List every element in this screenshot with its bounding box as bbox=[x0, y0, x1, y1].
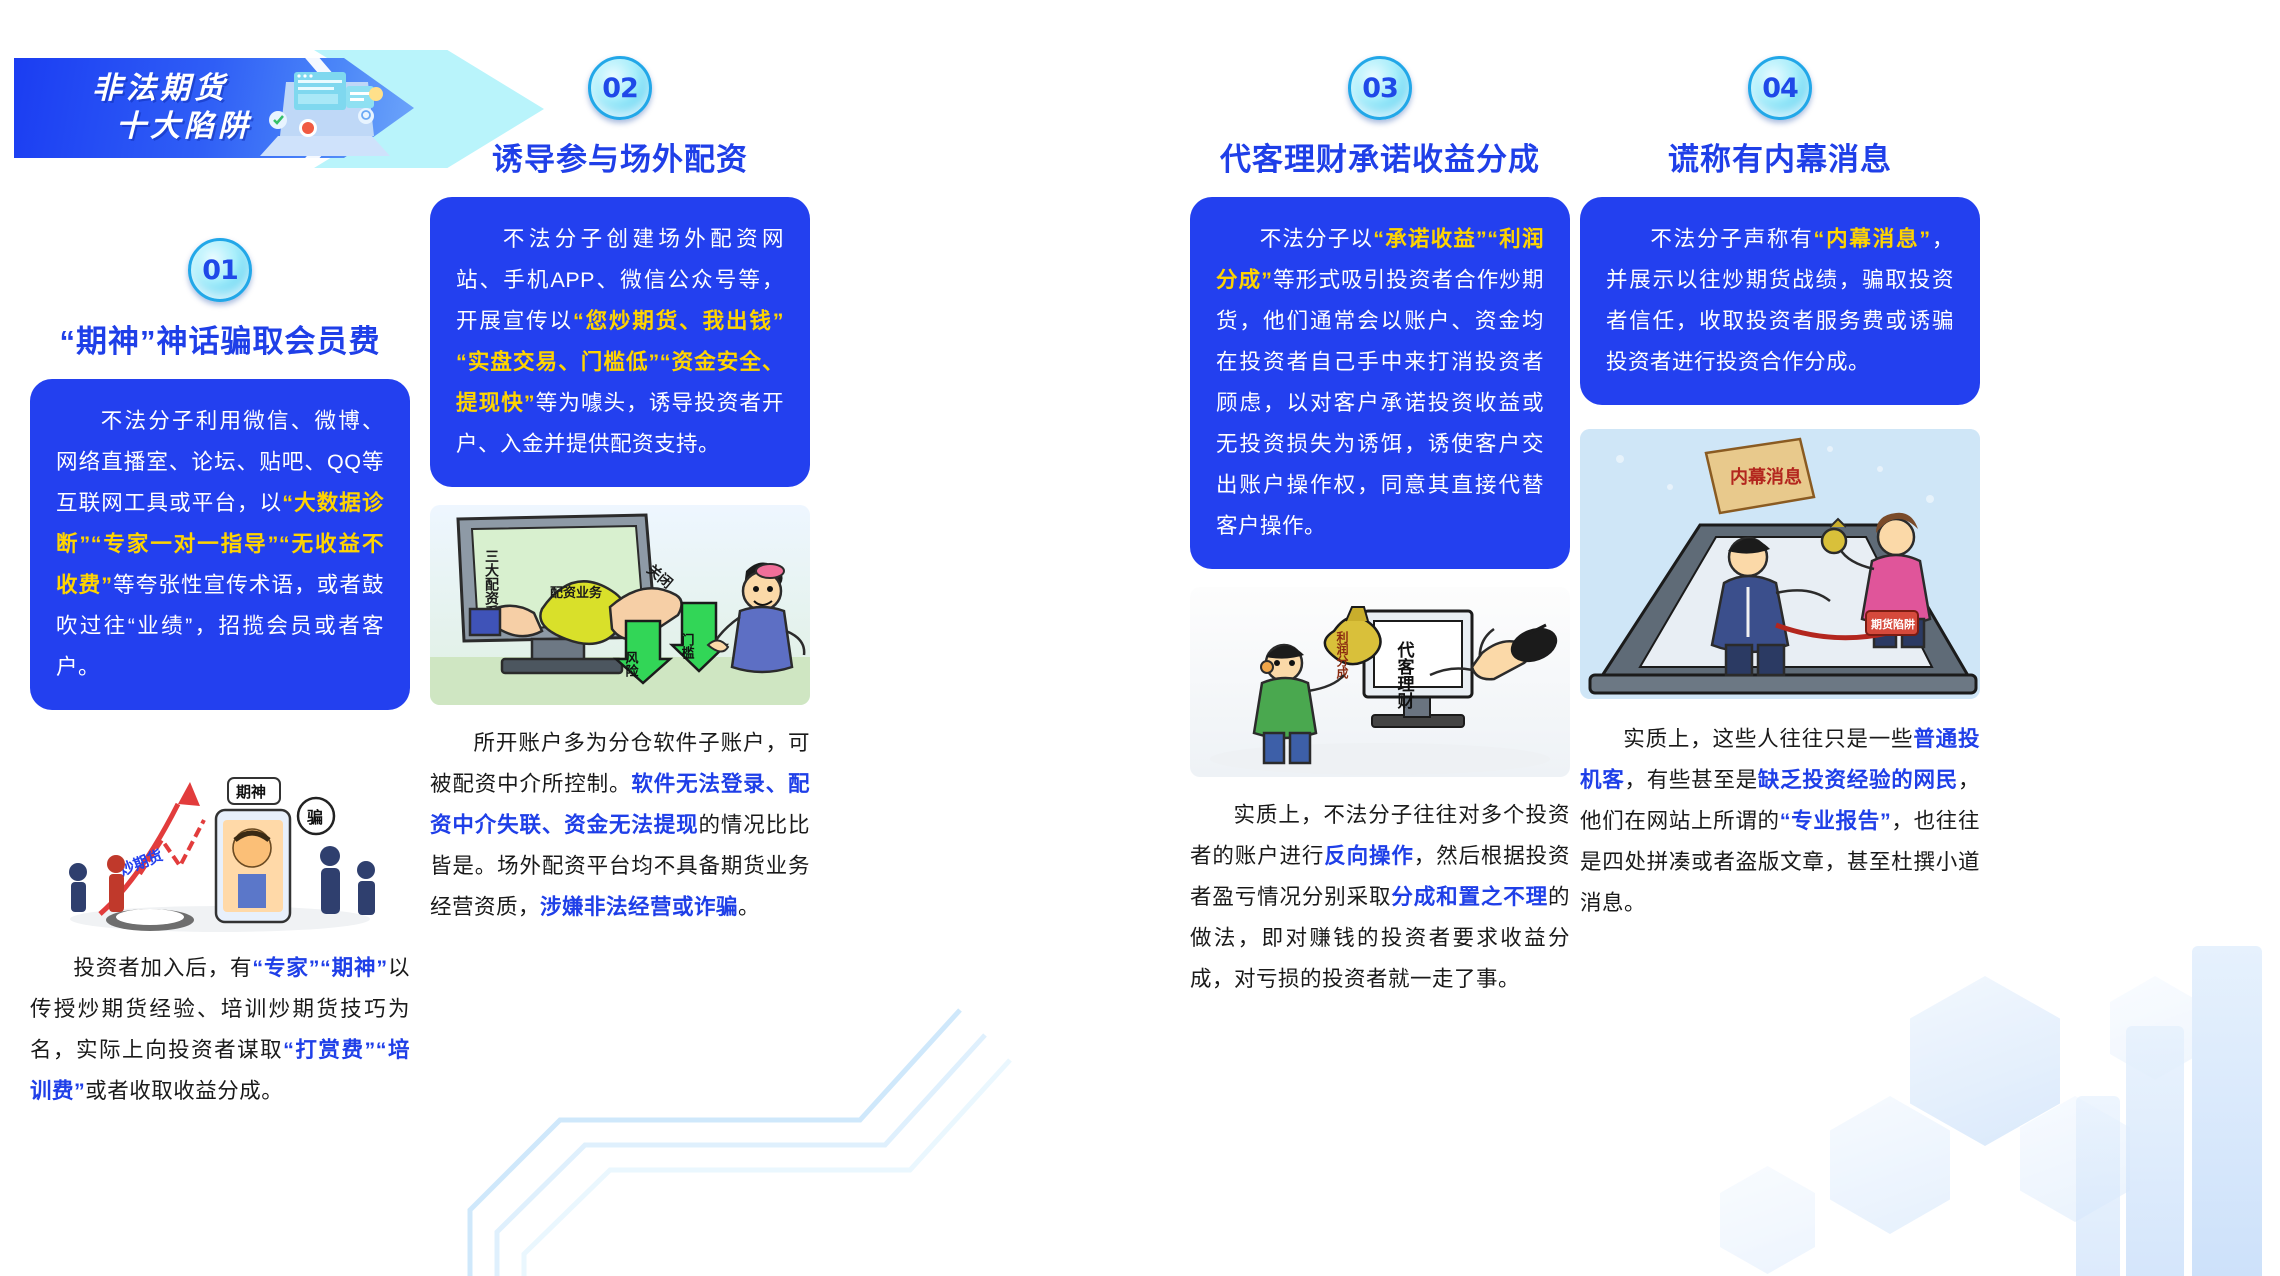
illustration-04: 内幕消息 bbox=[1580, 429, 1980, 699]
building-silhouette-3 bbox=[2076, 1096, 2120, 1276]
svg-text:期神: 期神 bbox=[236, 783, 266, 801]
section-column-3: 03 代客理财承诺收益分成 不法分子以“承诺收益”“利润分成”等形式吸引投资者合… bbox=[1190, 0, 1570, 1000]
svg-text:期货陷阱: 期货陷阱 bbox=[1871, 617, 1915, 631]
ribbon-line-2 bbox=[497, 1035, 985, 1276]
section-number: 04 bbox=[1762, 73, 1798, 104]
svg-text:代客理财: 代客理财 bbox=[1395, 640, 1416, 710]
svg-text:骗: 骗 bbox=[307, 808, 323, 827]
svg-text:配资业务: 配资业务 bbox=[550, 585, 603, 600]
svg-text:利润分成: 利润分成 bbox=[1335, 630, 1349, 680]
section-box-02: 不法分子创建场外配资网站、手机APP、微信公众号等，开展宣传以“您炒期货、我出钱… bbox=[430, 197, 810, 487]
svg-text:风险: 风险 bbox=[624, 651, 639, 678]
section-number: 03 bbox=[1362, 73, 1398, 104]
banner-title-line1: 非法期货 bbox=[92, 70, 252, 108]
section-column-2: 02 诱导参与场外配资 不法分子创建场外配资网站、手机APP、微信公众号等，开展… bbox=[430, 0, 810, 928]
section-column-1: 01 “期神”神话骗取会员费 不法分子利用微信、微博、网络直播室、论坛、贴吧、Q… bbox=[30, 0, 410, 1112]
section-box-03: 不法分子以“承诺收益”“利润分成”等形式吸引投资者合作炒期货，他们通常会以账户、… bbox=[1190, 197, 1570, 569]
laptop-icon bbox=[250, 64, 400, 164]
section-title-03: 代客理财承诺收益分成 bbox=[1190, 134, 1570, 179]
section-caption-03: 实质上，不法分子往往对多个投资者的账户进行反向操作，然后根据投资者盈亏情况分别采… bbox=[1190, 795, 1570, 1000]
svg-text:门槛: 门槛 bbox=[680, 632, 695, 660]
section-number: 01 bbox=[202, 255, 238, 286]
section-badge-02: 02 bbox=[588, 56, 652, 120]
section-badge-03: 03 bbox=[1348, 56, 1412, 120]
section-caption-01: 投资者加入后，有“专家”“期神”以传授炒期货经验、培训炒期货技巧为名，实际上向投… bbox=[30, 948, 410, 1112]
building-silhouette-2 bbox=[2126, 1026, 2184, 1276]
banner-title: 非法期货 十大陷阱 bbox=[92, 70, 252, 146]
section-caption-04: 实质上，这些人往往只是一些普通投机客，有些甚至是缺乏投资经验的网民，他们在网站上… bbox=[1580, 719, 1980, 924]
building-silhouette-1 bbox=[2192, 946, 2262, 1276]
section-badge-01: 01 bbox=[188, 238, 252, 302]
section-number: 02 bbox=[602, 73, 638, 104]
section-title-04: 谎称有内幕消息 bbox=[1580, 134, 1980, 179]
section-box-04: 不法分子声称有“内幕消息”，并展示以往炒期货战绩，骗取投资者信任，收取投资者服务… bbox=[1580, 197, 1980, 405]
section-title-02: 诱导参与场外配资 bbox=[430, 134, 810, 179]
section-badge-04: 04 bbox=[1748, 56, 1812, 120]
illustration-03: 代客理财 利润分成 bbox=[1190, 587, 1570, 777]
section-column-4: 04 谎称有内幕消息 不法分子声称有“内幕消息”，并展示以往炒期货战绩，骗取投资… bbox=[1580, 0, 1980, 924]
section-box-01: 不法分子利用微信、微博、网络直播室、论坛、贴吧、QQ等互联网工具或平台，以“大数… bbox=[30, 379, 410, 710]
illustration-01: 炒期货 期神 骗 bbox=[30, 724, 410, 934]
ribbon-line-1 bbox=[470, 1010, 960, 1276]
ribbon-line-3 bbox=[524, 1060, 1010, 1276]
section-caption-02: 所开账户多为分仓软件子账户，可被配资中介所控制。软件无法登录、配资中介失联、资金… bbox=[430, 723, 810, 928]
banner-title-line2: 十大陷阱 bbox=[116, 108, 252, 146]
illustration-02: 三大配资系统 配资业务 关闭 风险 门槛 bbox=[430, 505, 810, 705]
section-title-01: “期神”神话骗取会员费 bbox=[30, 316, 410, 361]
svg-text:内幕消息: 内幕消息 bbox=[1730, 466, 1802, 487]
